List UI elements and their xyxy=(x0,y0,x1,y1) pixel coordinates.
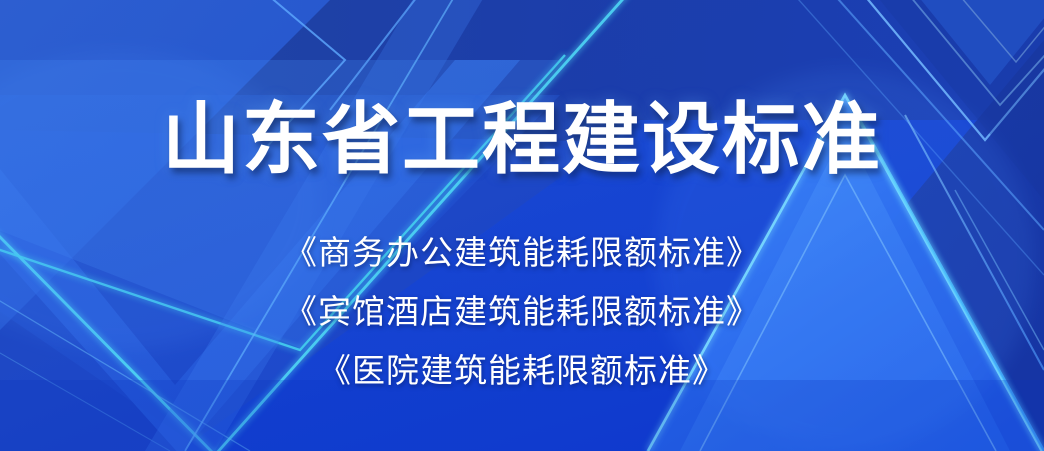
standards-list: 《商务办公建筑能耗限额标准》 《宾馆酒店建筑能耗限额标准》 《医院建筑能耗限额标… xyxy=(0,223,1044,400)
standards-banner: 山东省工程建设标准 《商务办公建筑能耗限额标准》 《宾馆酒店建筑能耗限额标准》 … xyxy=(0,0,1044,451)
list-item: 《商务办公建筑能耗限额标准》 xyxy=(0,223,1044,282)
list-item: 《医院建筑能耗限额标准》 xyxy=(0,341,1044,400)
list-item: 《宾馆酒店建筑能耗限额标准》 xyxy=(0,282,1044,341)
page-title: 山东省工程建设标准 xyxy=(0,97,1044,183)
banner-content: 山东省工程建设标准 《商务办公建筑能耗限额标准》 《宾馆酒店建筑能耗限额标准》 … xyxy=(0,0,1044,451)
